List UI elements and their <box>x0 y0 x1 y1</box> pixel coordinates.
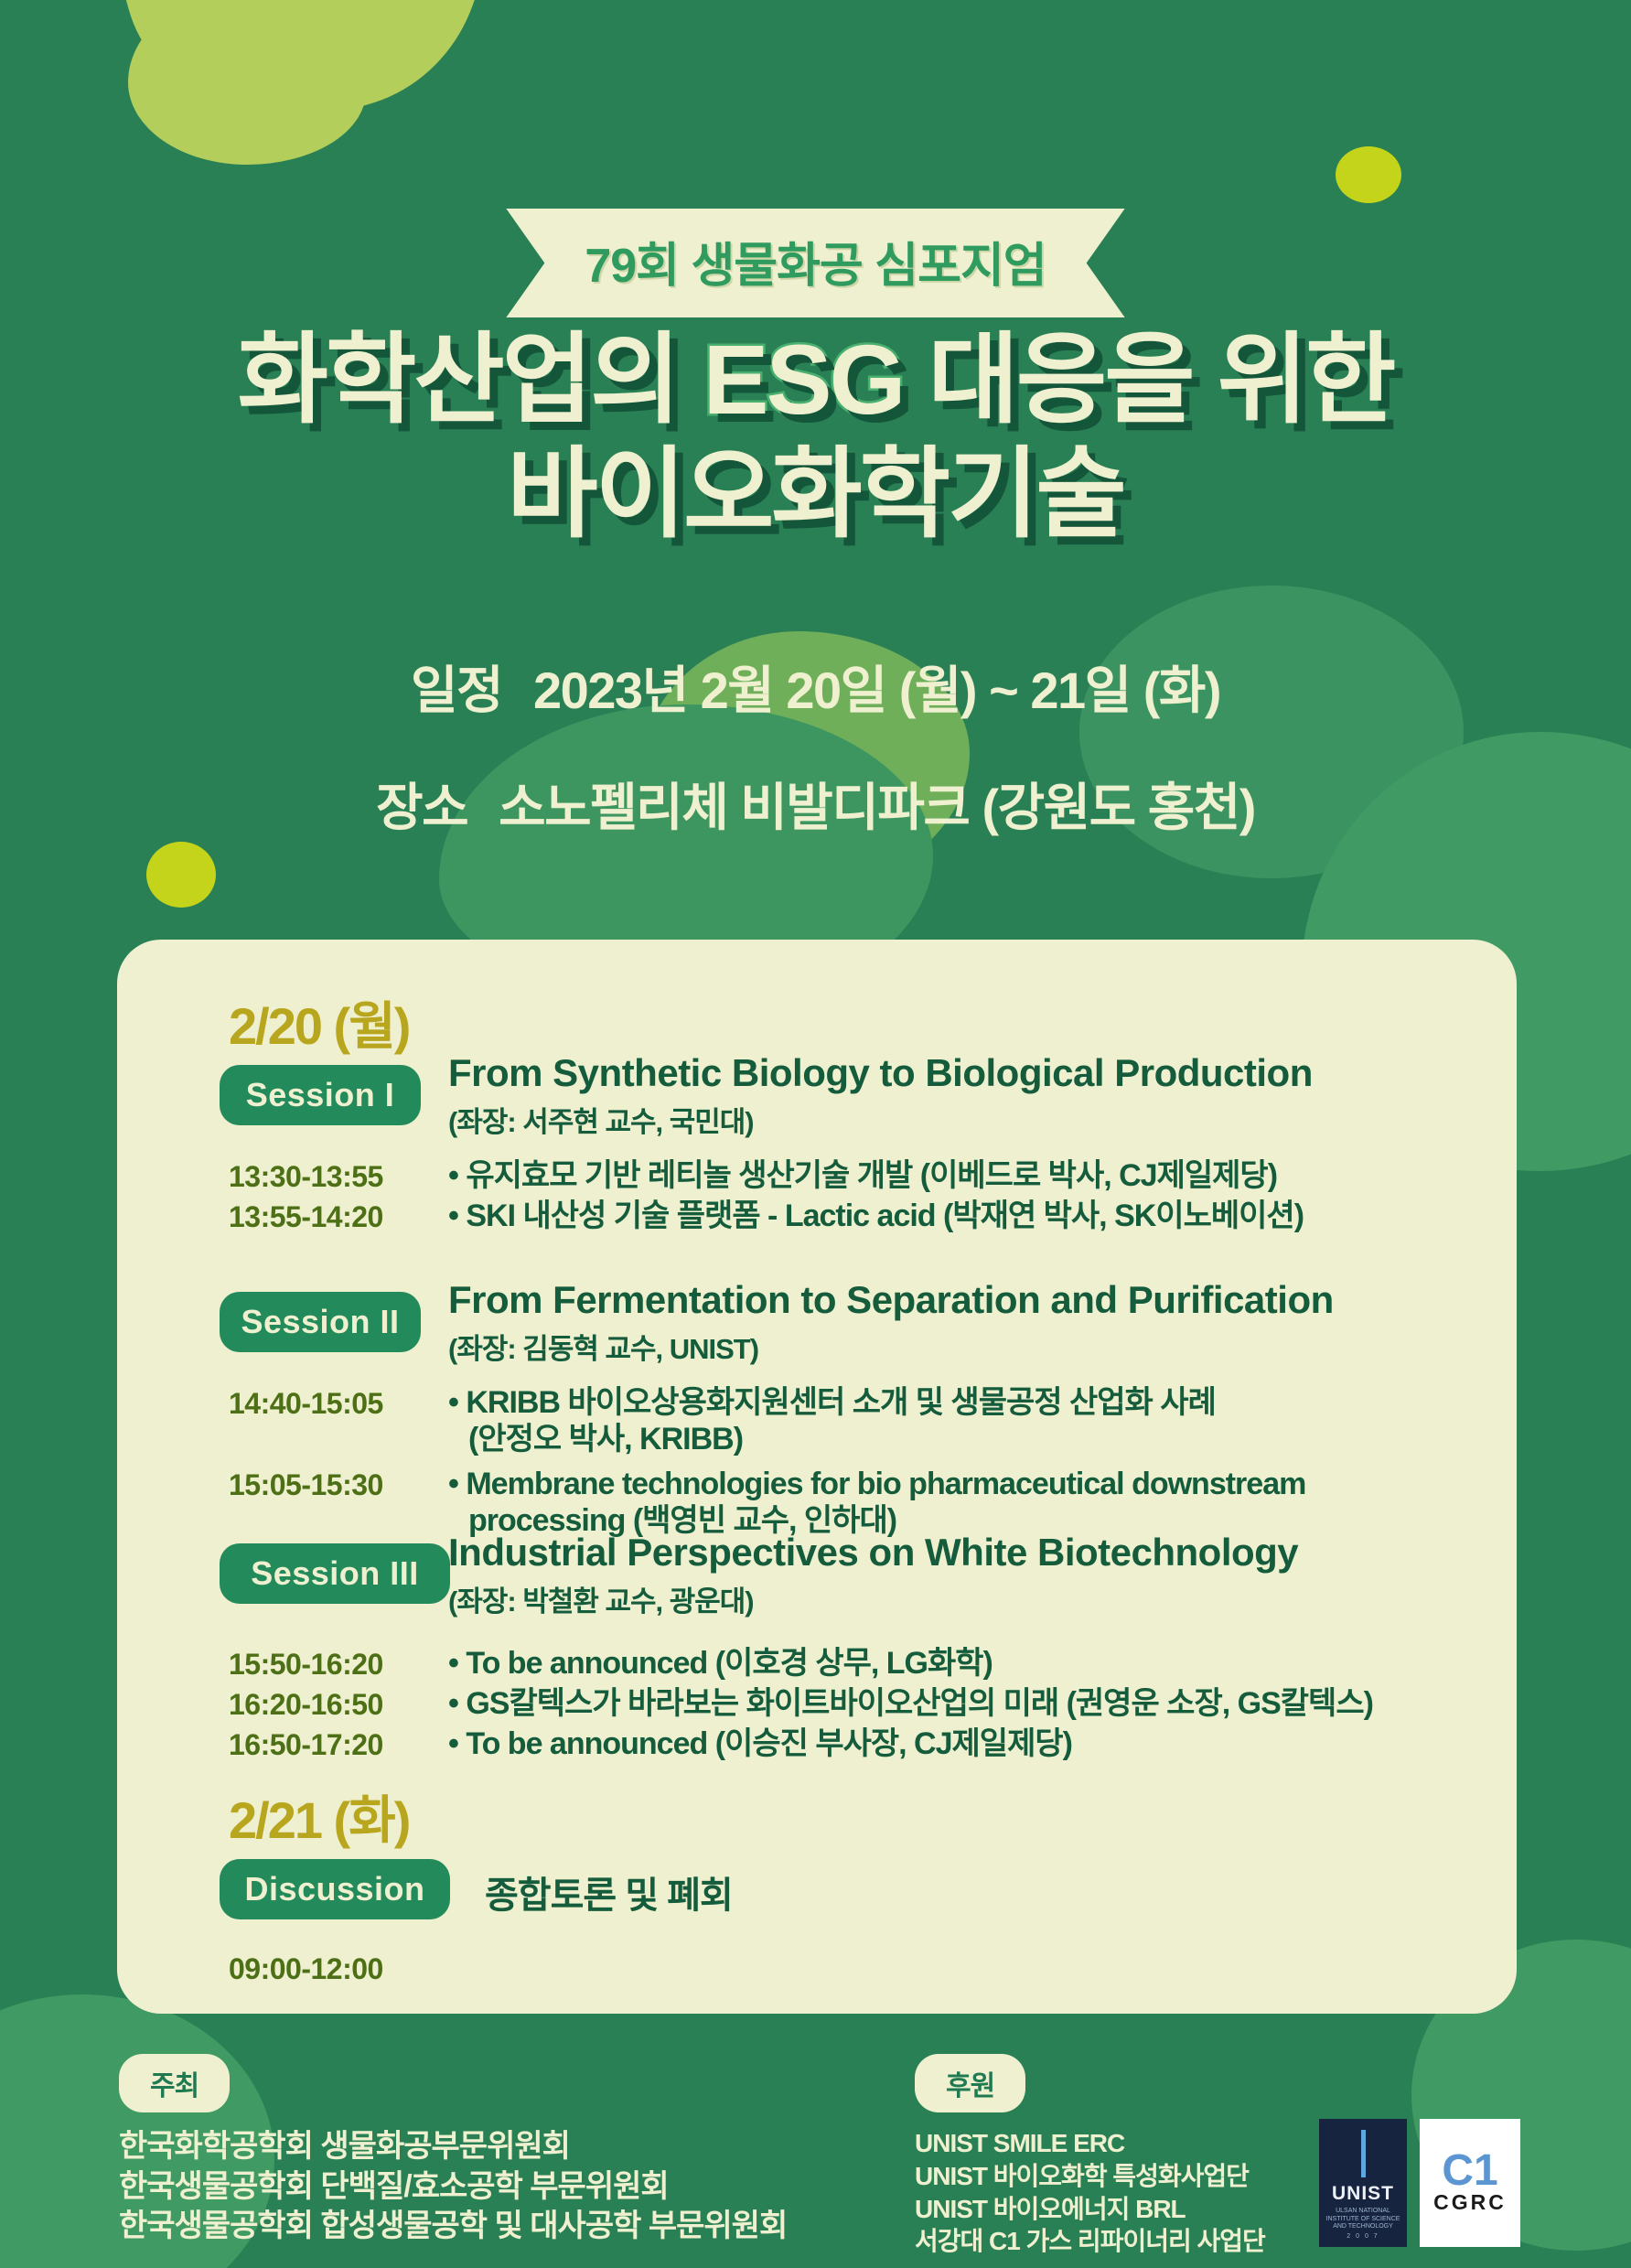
host-item: 한국화학공학회 생물화공부문위원회 <box>119 2127 787 2167</box>
title-part-after-esg: 대응을 위한 <box>904 324 1394 435</box>
talk-time: 15:50-16:20 <box>229 1648 383 1682</box>
talk-time: 14:40-15:05 <box>229 1387 383 1421</box>
discussion-time: 09:00-12:00 <box>229 1952 383 1986</box>
program-card: 2/20 (월) Session I From Synthetic Biolog… <box>117 940 1517 2014</box>
sponsor-list: UNIST SMILE ERC UNIST 바이오화학 특성화사업단 UNIST… <box>915 2127 1265 2258</box>
session-pill-1: Session I <box>220 1065 421 1125</box>
sponsor-item: 서강대 C1 가스 리파이너리 사업단 <box>915 2225 1265 2258</box>
talk-text: • SKI 내산성 기술 플랫폼 - Lactic acid (박재연 박사, … <box>448 1198 1462 1234</box>
talk-time: 15:05-15:30 <box>229 1468 383 1502</box>
day-header-2: 2/21 (화) <box>229 1779 409 1854</box>
host-tag: 주최 <box>119 2054 230 2112</box>
decor-dot-top-right <box>1336 146 1401 203</box>
title-line-2: 바이오화학기술 <box>0 436 1631 551</box>
venue-label: 장소 <box>376 779 467 836</box>
session-pill-2: Session II <box>220 1292 421 1352</box>
unist-logo-name: UNIST <box>1332 2183 1394 2205</box>
host-item: 한국생물공학회 합성생물공학 및 대사공학 부문위원회 <box>119 2207 787 2247</box>
talk-text: • To be announced (이호경 상무, LG화학) <box>448 1645 1462 1682</box>
cgrc-logo-name: CGRC <box>1433 2190 1507 2215</box>
talk-text: • KRIBB 바이오상용화지원센터 소개 및 생물공정 산업화 사례 (안정오… <box>448 1384 1242 1457</box>
unist-mast-icon <box>1361 2130 1366 2177</box>
unist-logo-subtitle: ULSAN NATIONAL INSTITUTE OF SCIENCE AND … <box>1319 2208 1407 2231</box>
date-label: 일정 <box>411 661 502 719</box>
event-venue: 장소소노펠리체 비발디파크 (강원도 홍천) <box>0 767 1631 841</box>
ribbon-shape: 79회 생물화공 심포지엄 <box>506 209 1124 317</box>
title-part-before-esg: 화학산업의 <box>238 324 703 435</box>
day-header-1: 2/20 (월) <box>229 985 409 1059</box>
sponsor-item: UNIST 바이오에너지 BRL <box>915 2193 1265 2226</box>
title-line-1: 화학산업의 ESG 대응을 위한 <box>0 322 1631 436</box>
talk-time: 13:55-14:20 <box>229 1200 383 1234</box>
session-chair-1: (좌장: 서주현 교수, 국민대) <box>448 1099 754 1140</box>
host-item: 한국생물공학회 단백질/효소공학 부문위원회 <box>119 2167 787 2208</box>
talk-text: • Membrane technologies for bio pharmace… <box>448 1466 1462 1539</box>
event-date: 일정2023년 2월 20일 (월) ~ 21일 (화) <box>0 650 1631 724</box>
talk-time: 16:50-17:20 <box>229 1728 383 1762</box>
date-value: 2023년 2월 20일 (월) ~ 21일 (화) <box>533 661 1220 719</box>
unist-logo-year: 2 0 0 7 <box>1347 2233 1379 2240</box>
talk-text: • To be announced (이승진 부사장, CJ제일제당) <box>448 1725 1462 1762</box>
session-title-3: Industrial Perspectives on White Biotech… <box>448 1532 1298 1574</box>
talk-text: • 유지효모 기반 레티놀 생산기술 개발 (이베드로 박사, CJ제일제당) <box>448 1157 1462 1194</box>
decor-dot-left <box>146 842 216 908</box>
sponsor-section: 후원 UNIST SMILE ERC UNIST 바이오화학 특성화사업단 UN… <box>915 2054 1265 2258</box>
sponsor-item: UNIST SMILE ERC <box>915 2127 1265 2160</box>
sponsor-item: UNIST 바이오화학 특성화사업단 <box>915 2160 1265 2193</box>
venue-value: 소노펠리체 비발디파크 (강원도 홍천) <box>499 779 1255 836</box>
session-title-1: From Synthetic Biology to Biological Pro… <box>448 1053 1313 1094</box>
cgrc-c1-mark: C1 <box>1442 2151 1497 2190</box>
cgrc-logo: C1 CGRC <box>1420 2119 1520 2247</box>
poster-canvas: 79회 생물화공 심포지엄 화학산업의 ESG 대응을 위한 바이오화학기술 일… <box>0 0 1631 2268</box>
session-chair-2: (좌장: 김동혁 교수, UNIST) <box>448 1326 758 1367</box>
host-list: 한국화학공학회 생물화공부문위원회 한국생물공학회 단백질/효소공학 부문위원회… <box>119 2127 787 2247</box>
page-title: 화학산업의 ESG 대응을 위한 바이오화학기술 <box>0 322 1631 552</box>
ribbon-label: 79회 생물화공 심포지엄 <box>585 227 1046 296</box>
host-section: 주최 한국화학공학회 생물화공부문위원회 한국생물공학회 단백질/효소공학 부문… <box>119 2054 787 2247</box>
talk-time: 13:30-13:55 <box>229 1160 383 1194</box>
session-chair-3: (좌장: 박철환 교수, 광운대) <box>448 1578 754 1619</box>
unist-logo: UNIST ULSAN NATIONAL INSTITUTE OF SCIENC… <box>1319 2119 1407 2247</box>
discussion-pill: Discussion <box>220 1859 450 1919</box>
sponsor-tag: 후원 <box>915 2054 1025 2112</box>
sponsor-logos: UNIST ULSAN NATIONAL INSTITUTE OF SCIENC… <box>1319 2119 1520 2247</box>
ribbon-banner: 79회 생물화공 심포지엄 <box>0 209 1631 317</box>
discussion-text: 종합토론 및 폐회 <box>485 1865 733 1919</box>
talk-text: • GS칼텍스가 바라보는 화이트바이오산업의 미래 (권영운 소장, GS칼텍… <box>448 1685 1462 1722</box>
decor-blob-top-left-tail <box>128 0 366 165</box>
title-esg-highlight: ESG <box>703 324 903 435</box>
talk-time: 16:20-16:50 <box>229 1688 383 1722</box>
session-pill-3: Session III <box>220 1543 450 1604</box>
session-title-2: From Fermentation to Separation and Puri… <box>448 1280 1334 1321</box>
